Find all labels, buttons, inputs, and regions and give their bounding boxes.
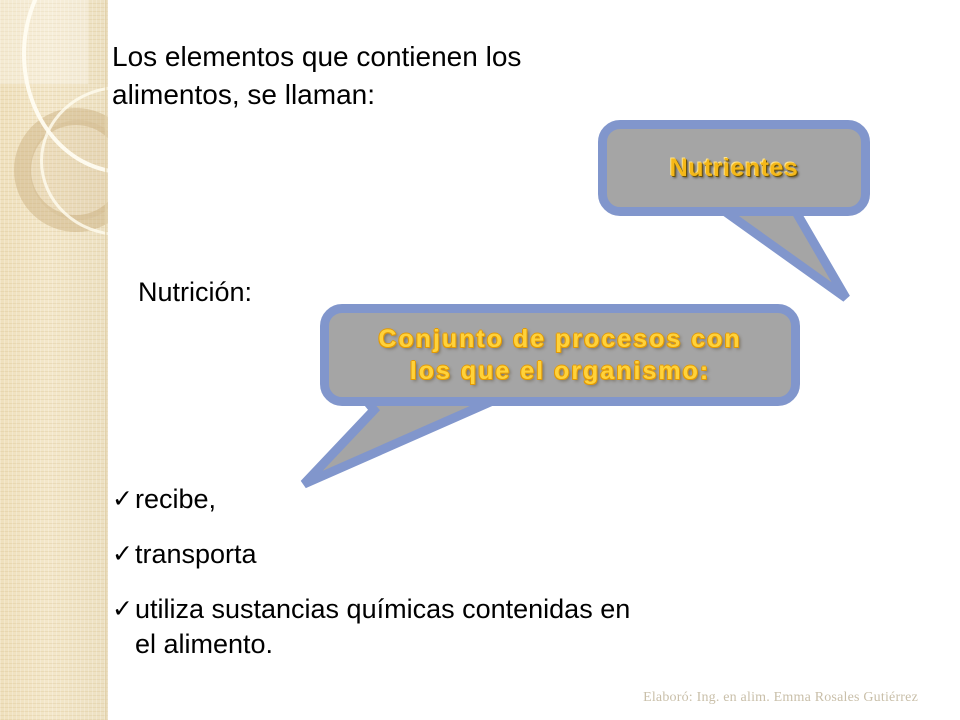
speech-bubble-nutrientes-text: Nutrientes bbox=[670, 154, 799, 183]
checkmark-icon: ✓ bbox=[112, 482, 133, 516]
speech-bubble-conjunto-text: Conjunto de procesos con los que el orga… bbox=[378, 323, 741, 387]
footer-credit: Elaboró: Ing. en alim. Emma Rosales Guti… bbox=[643, 690, 918, 706]
sidebar-edge-divider bbox=[105, 0, 108, 720]
checkmark-icon: ✓ bbox=[112, 537, 133, 571]
nutricion-label: Nutrición: bbox=[138, 275, 252, 309]
list-item: ✓ utiliza sustancias químicas contenidas… bbox=[112, 592, 792, 662]
speech-bubble-conjunto: Conjunto de procesos con los que el orga… bbox=[320, 304, 800, 406]
speech-bubble-nutrientes: Nutrientes bbox=[598, 120, 870, 216]
decorative-sidebar bbox=[0, 0, 108, 720]
checkmark-icon: ✓ bbox=[112, 592, 133, 626]
slide-canvas: Los elementos que contienen los alimento… bbox=[0, 0, 960, 720]
page-title: Los elementos que contienen los alimento… bbox=[112, 38, 672, 114]
list-item-label: utiliza sustancias químicas contenidas e… bbox=[135, 592, 630, 662]
list-item-label: transporta bbox=[135, 537, 257, 572]
list-item: ✓ transporta bbox=[112, 537, 792, 572]
list-item-label: recibe, bbox=[135, 482, 216, 517]
bullet-list: ✓ recibe, ✓ transporta ✓ utiliza sustanc… bbox=[112, 482, 792, 682]
